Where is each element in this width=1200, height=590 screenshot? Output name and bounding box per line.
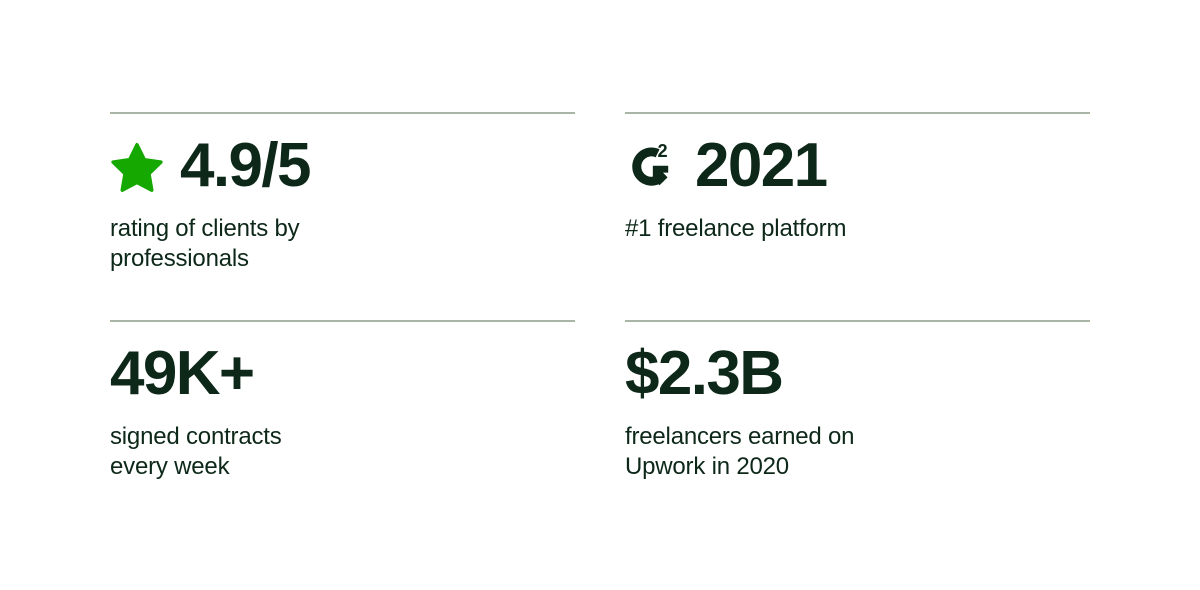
stat-value: 2021 xyxy=(695,135,827,197)
stat-caption: #1 freelance platform xyxy=(625,214,1045,244)
stat-card-rating: 4.9/5 rating of clients by professionals xyxy=(110,112,575,320)
stat-caption: rating of clients by professionals xyxy=(110,214,530,274)
g2-logo-icon: 2 xyxy=(625,138,679,194)
stats-board: 4.9/5 rating of clients by professionals xyxy=(0,0,1200,590)
stat-caption-line: every week xyxy=(110,452,530,482)
stat-caption: signed contracts every week xyxy=(110,422,530,482)
stat-caption-line: freelancers earned on xyxy=(625,422,1045,452)
stat-headline: 2 2021 xyxy=(625,130,1090,202)
star-icon xyxy=(110,138,164,194)
stat-headline: 49K+ xyxy=(110,338,575,410)
stat-headline: $2.3B xyxy=(625,338,1090,410)
stat-card-signed-contracts: 49K+ signed contracts every week xyxy=(110,320,575,528)
stat-divider xyxy=(110,112,575,114)
stat-value: $2.3B xyxy=(625,343,782,405)
stat-caption-line: signed contracts xyxy=(110,422,530,452)
stat-caption: freelancers earned on Upwork in 2020 xyxy=(625,422,1045,482)
stat-value: 4.9/5 xyxy=(180,135,310,197)
stat-divider xyxy=(625,320,1090,322)
stat-value: 49K+ xyxy=(110,343,254,405)
stat-caption-line: #1 freelance platform xyxy=(625,214,1045,244)
stat-caption-line: rating of clients by xyxy=(110,214,530,244)
stat-headline: 4.9/5 xyxy=(110,130,575,202)
stat-caption-line: Upwork in 2020 xyxy=(625,452,1045,482)
stats-grid: 4.9/5 rating of clients by professionals xyxy=(110,112,1090,528)
stat-divider xyxy=(625,112,1090,114)
stat-card-freelancer-earnings: $2.3B freelancers earned on Upwork in 20… xyxy=(625,320,1090,528)
svg-text:2: 2 xyxy=(658,141,668,161)
stat-card-g2-award: 2 2021 #1 freelance platform xyxy=(625,112,1090,320)
stat-divider xyxy=(110,320,575,322)
stat-caption-line: professionals xyxy=(110,244,530,274)
